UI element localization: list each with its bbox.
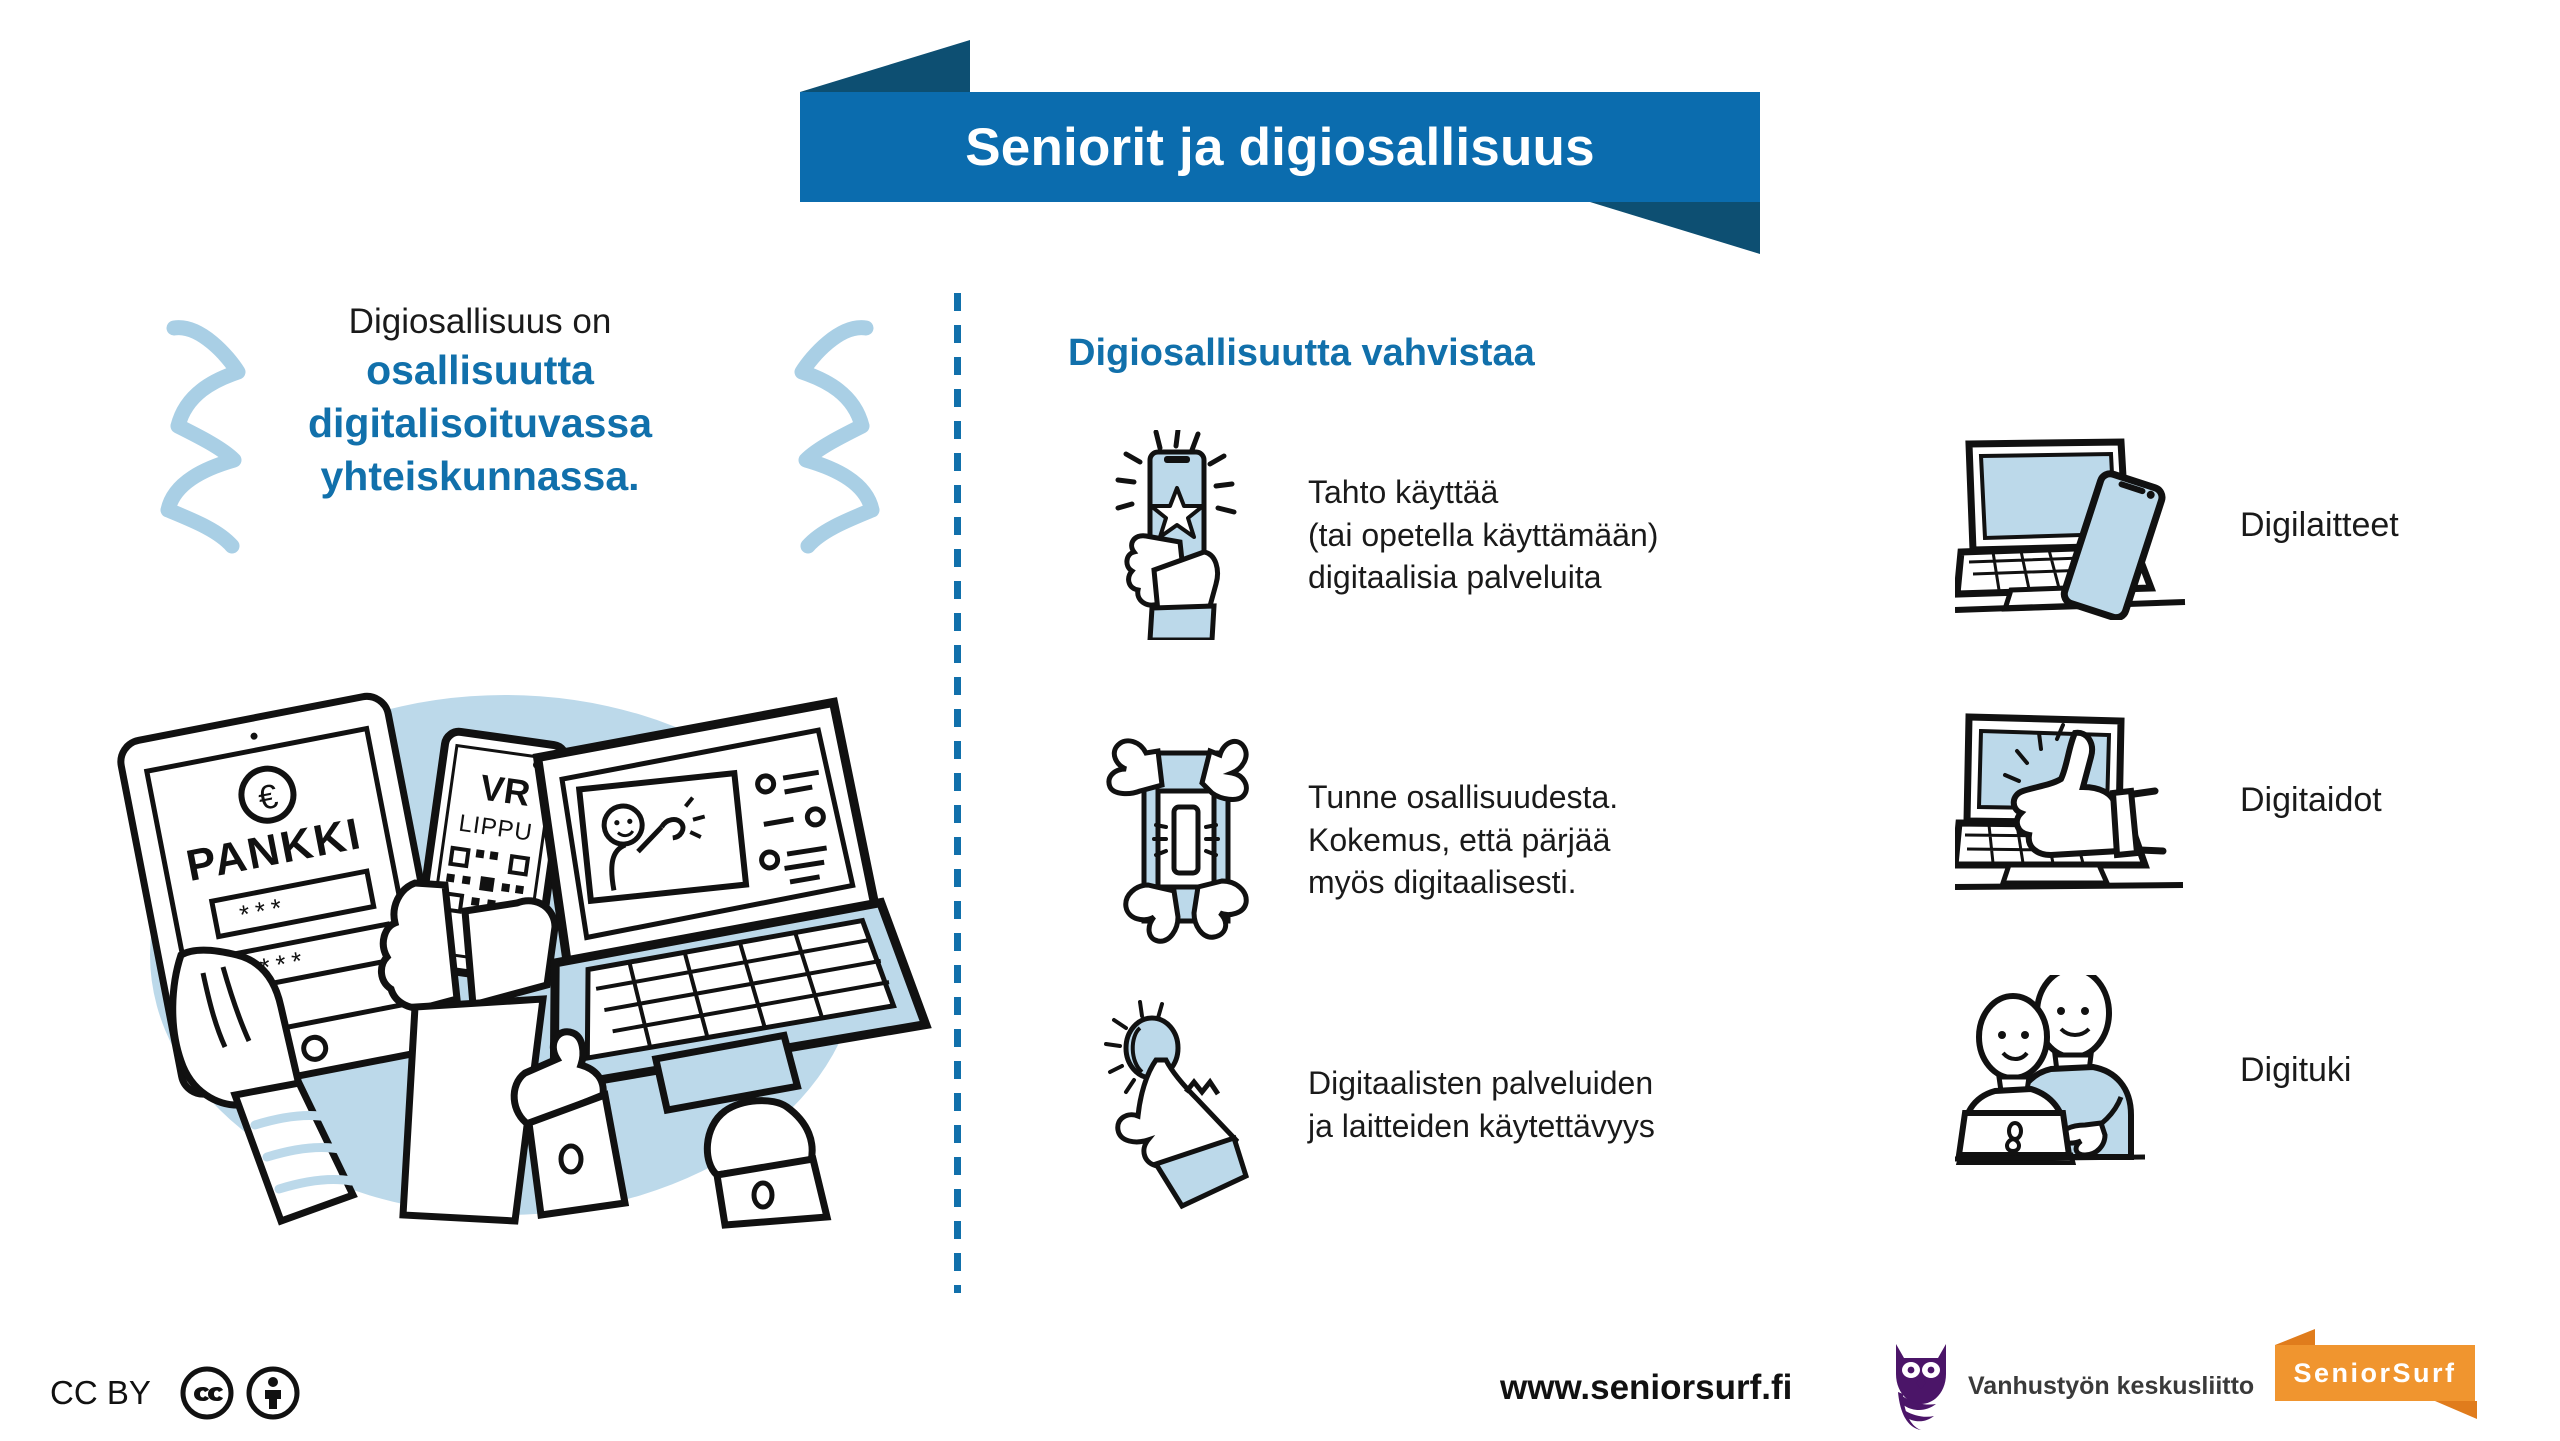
pillar-label: Digitaidot bbox=[2240, 781, 2382, 820]
feature-line: digitaalisia palveluita bbox=[1308, 556, 1658, 599]
quote-intro-line: Digiosallisuus on bbox=[220, 300, 740, 344]
organization-logo: Vanhustyön keskusliitto bbox=[1890, 1340, 2254, 1432]
right-column-heading: Digiosallisuutta vahvistaa bbox=[1068, 332, 1535, 375]
brace-right-icon bbox=[780, 314, 900, 564]
left-panel: Digiosallisuus on osallisuutta digitalis… bbox=[40, 300, 920, 580]
hands-around-phone-icon bbox=[1100, 735, 1270, 945]
feature-text: Tunne osallisuudesta. Kokemus, että pärj… bbox=[1308, 776, 1618, 904]
definition-quote-block: Digiosallisuus on osallisuutta digitalis… bbox=[40, 300, 920, 580]
pillar-label: Digilaitteet bbox=[2240, 506, 2399, 545]
quote-strong-line-3: yhteiskunnassa. bbox=[220, 450, 740, 503]
pillar-label: Digituki bbox=[2240, 1051, 2351, 1090]
two-people-laptop-icon bbox=[1955, 975, 2205, 1165]
cc-icon bbox=[179, 1365, 235, 1421]
brand-body: SeniorSurf bbox=[2275, 1345, 2475, 1401]
feature-row: Tahto käyttää (tai opetella käyttämään) … bbox=[1100, 430, 1658, 640]
feature-line: (tai opetella käyttämään) bbox=[1308, 514, 1658, 557]
page-title: Seniorit ja digiosallisuus bbox=[965, 117, 1595, 178]
brand-tail-top-left bbox=[2275, 1329, 2315, 1345]
quote-strong-line-1: osallisuutta bbox=[220, 344, 740, 397]
feature-line: Tahto käyttää bbox=[1308, 471, 1658, 514]
feature-line: Digitaalisten palveluiden bbox=[1308, 1062, 1655, 1105]
hand-holding-phone-star-icon bbox=[1100, 430, 1270, 640]
feature-row: Digitaalisten palveluiden ja laitteiden … bbox=[1100, 1000, 1655, 1210]
feature-text: Digitaalisten palveluiden ja laitteiden … bbox=[1308, 1062, 1655, 1147]
by-person-icon bbox=[245, 1365, 301, 1421]
license-label: CC BY bbox=[50, 1374, 151, 1412]
feature-line: Kokemus, että pärjää bbox=[1308, 819, 1618, 862]
banner-body: Seniorit ja digiosallisuus bbox=[800, 92, 1760, 202]
devices-illustration: € PANKKI *** *** VR LIPPU bbox=[85, 655, 945, 1255]
pillar-row: Digitaidot bbox=[1955, 705, 2382, 895]
title-banner: Seniorit ja digiosallisuus bbox=[800, 92, 1760, 202]
laptop-and-phone-icon bbox=[1955, 430, 2205, 620]
pillar-row: Digilaitteet bbox=[1955, 430, 2399, 620]
definition-text: Digiosallisuus on osallisuutta digitalis… bbox=[220, 300, 740, 504]
quote-strong-line-2: digitalisoituvassa bbox=[220, 397, 740, 450]
feature-line: Tunne osallisuudesta. bbox=[1308, 776, 1618, 819]
brand-tail-bottom-right bbox=[2435, 1401, 2477, 1419]
feature-line: myös digitaalisesti. bbox=[1308, 861, 1618, 904]
banner-tail-top-left bbox=[800, 40, 970, 92]
owl-icon bbox=[1890, 1340, 1952, 1432]
pillar-row: Digituki bbox=[1955, 975, 2351, 1165]
organization-name: Vanhustyön keskusliitto bbox=[1968, 1372, 2254, 1401]
brand-name: SeniorSurf bbox=[2293, 1358, 2456, 1389]
seniorsurf-brand-logo: SeniorSurf bbox=[2275, 1345, 2500, 1423]
laptop-thumbs-up-icon bbox=[1955, 705, 2205, 895]
feature-line: ja laitteiden käytettävyys bbox=[1308, 1105, 1655, 1148]
finger-pressing-button-icon bbox=[1100, 1000, 1270, 1210]
vertical-dashed-divider bbox=[954, 293, 961, 1293]
banner-tail-bottom-right bbox=[1590, 202, 1760, 254]
feature-text: Tahto käyttää (tai opetella käyttämään) … bbox=[1308, 471, 1658, 599]
phone-brand-label: VR bbox=[478, 766, 533, 814]
website-url[interactable]: www.seniorsurf.fi bbox=[1500, 1368, 1792, 1408]
license-block: CC BY bbox=[50, 1365, 301, 1421]
feature-row: Tunne osallisuudesta. Kokemus, että pärj… bbox=[1100, 735, 1618, 945]
